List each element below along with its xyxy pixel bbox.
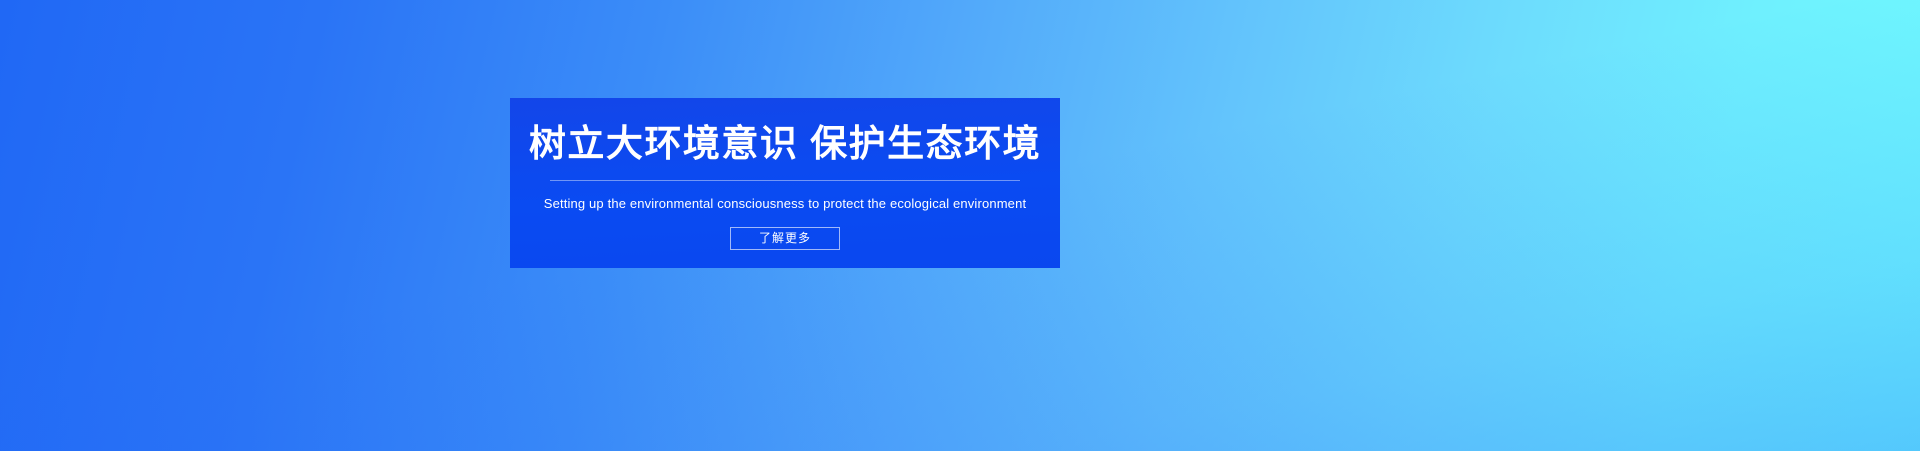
hero-banner: 树立大环境意识 保护生态环境 Setting up the environmen… <box>0 0 1920 451</box>
title-divider <box>550 180 1020 181</box>
banner-subtitle: Setting up the environmental consciousne… <box>544 196 1026 212</box>
banner-title: 树立大环境意识 保护生态环境 <box>529 124 1041 164</box>
banner-content-panel: 树立大环境意识 保护生态环境 Setting up the environmen… <box>510 98 1060 268</box>
learn-more-button[interactable]: 了解更多 <box>730 227 840 250</box>
